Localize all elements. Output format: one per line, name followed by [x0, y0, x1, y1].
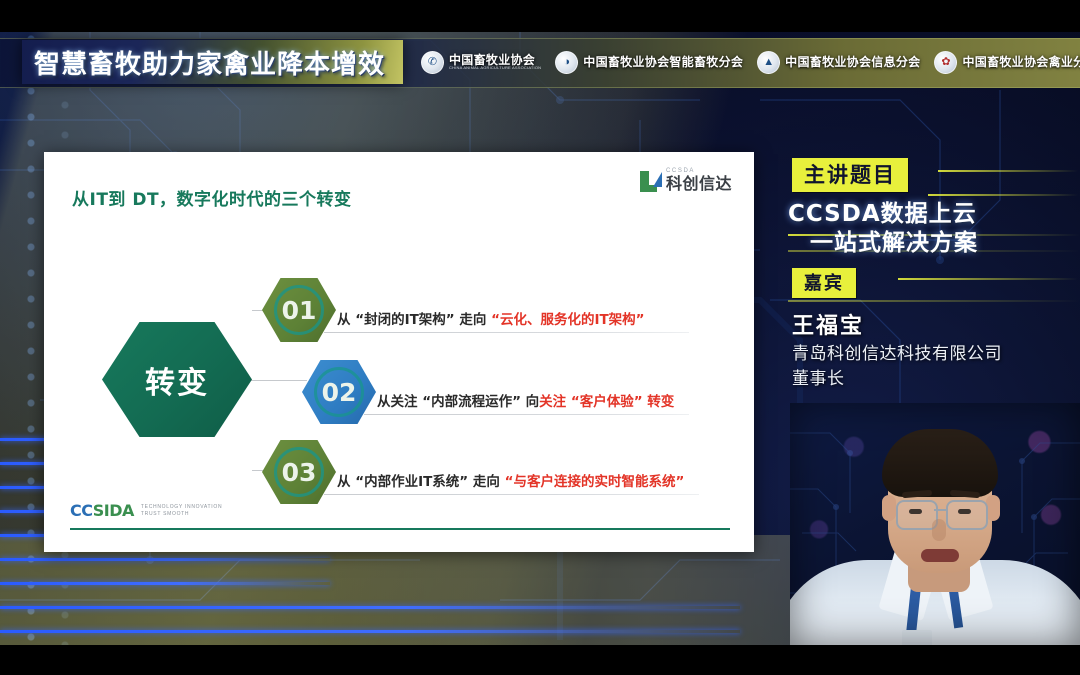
step-number-01: 01 — [282, 296, 317, 325]
center-node-label: 转变 — [145, 358, 209, 402]
ccsida-wordmark-cc: CC — [70, 501, 93, 520]
letterbox-top — [0, 0, 1080, 32]
step-number-03: 03 — [282, 458, 317, 487]
association-logo-2: ▲ 中国畜牧业协会信息分会 — [757, 51, 920, 74]
event-title-text: 智慧畜牧助力家禽业降本增效 — [34, 44, 385, 81]
topic-title-line1: CCSDA数据上云 — [788, 200, 1078, 229]
topic-title: CCSDA数据上云 一站式解决方案 — [788, 200, 1078, 259]
step-rule-03 — [324, 494, 699, 495]
ccsda-mark-icon — [640, 171, 662, 192]
step-text-03: 从 “内部作业IT系统” 走向 “与客户连接的实时智能系统” — [337, 470, 684, 490]
association-logo-3: ✿ 中国畜牧业协会禽业分会 — [934, 51, 1080, 74]
association-logo-row: ✆ 中国畜牧业协会 CHINA ANIMAL AGRICULTURE ASSOC… — [415, 38, 1080, 86]
speaker-ear-right — [986, 495, 1000, 521]
slide-title: 从IT到 DT，数字化时代的三个转变 — [72, 185, 352, 210]
step-text-01-highlight: “云化、服务化的IT架构” — [491, 312, 644, 328]
step-text-01-plain: 从 “封闭的IT架构” 走向 — [337, 312, 491, 328]
information-branch-icon: ▲ — [757, 51, 780, 74]
slide-footer-rule — [70, 528, 730, 530]
step-number-02: 02 — [322, 378, 357, 407]
guest-name: 王福宝 — [792, 308, 864, 340]
presentation-slide: 从IT到 DT，数字化时代的三个转变 CCSDA 科创信达 转变 01 02 0… — [44, 152, 754, 552]
topic-badge-label: 主讲题目 — [804, 159, 896, 189]
association-name-3: 中国畜牧业协会禽业分会 — [962, 56, 1080, 69]
association-name-2: 中国畜牧业协会信息分会 — [785, 56, 920, 69]
ccsida-wordmark: CCSIDA — [70, 501, 134, 520]
speaker-mouth — [921, 549, 959, 562]
step-text-01: 从 “封闭的IT架构” 走向 “云化、服务化的IT架构” — [337, 308, 645, 328]
step-rule-01 — [324, 332, 689, 333]
step-text-03-highlight: “与客户连接的实时智能系统” — [505, 474, 685, 490]
step-text-02-highlight: 关注 “客户体验” 转变 — [539, 394, 674, 410]
association-name-1: 中国畜牧业协会智能畜牧分会 — [583, 56, 743, 69]
guest-badge: 嘉宾 — [792, 268, 856, 298]
event-title-plate: 智慧畜牧助力家禽业降本增效 — [22, 40, 403, 84]
guest-org-line2: 董事长 — [792, 367, 1078, 392]
guest-badge-label: 嘉宾 — [804, 269, 844, 295]
guest-organization: 青岛科创信达科技有限公司 董事长 — [792, 342, 1078, 391]
lanyard-badge-card — [902, 630, 932, 646]
center-node-hexagon: 转变 — [102, 322, 252, 437]
poultry-branch-icon: ✿ — [934, 51, 957, 74]
step-text-02: 从关注 “内部流程运作” 向关注 “客户体验” 转变 — [377, 390, 674, 410]
association-logo-0: ✆ 中国畜牧业协会 CHINA ANIMAL AGRICULTURE ASSOC… — [421, 51, 541, 74]
eyeglasses-bridge — [934, 509, 946, 511]
ccsida-wordmark-sida: SIDA — [93, 501, 134, 520]
speaker-nose — [932, 519, 946, 541]
eyeglasses-lens-right — [946, 500, 988, 530]
slide-footer-logo: CCSIDA TECHNOLOGY INNOVATION TRUST SMOOT… — [70, 501, 222, 520]
letterbox-bottom — [0, 645, 1080, 675]
association-name-en-0: CHINA ANIMAL AGRICULTURE ASSOCIATION — [449, 66, 541, 70]
ccsda-logo-cn: 科创信达 — [666, 176, 732, 192]
smart-livestock-branch-icon: ◑ — [555, 51, 578, 74]
topic-badge: 主讲题目 — [792, 158, 908, 192]
speaker-video-feed[interactable] — [790, 403, 1080, 646]
association-seal-icon: ✆ — [421, 51, 444, 74]
step-text-03-plain: 从 “内部作业IT系统” 走向 — [337, 474, 505, 490]
broadcast-stage: 智慧畜牧助力家禽业降本增效 ✆ 中国畜牧业协会 CHINA ANIMAL AGR… — [0, 0, 1080, 675]
ccsida-tagline-line2: TRUST SMOOTH — [141, 511, 222, 517]
ccsda-brand-logo: CCSDA 科创信达 — [640, 168, 732, 192]
step-text-02-plain: 从关注 “内部流程运作” 向 — [377, 394, 539, 410]
speaker-ear-left — [882, 495, 896, 521]
guest-org-line1: 青岛科创信达科技有限公司 — [792, 342, 1078, 367]
association-logo-1: ◑ 中国畜牧业协会智能畜牧分会 — [555, 51, 743, 74]
topic-title-line2: 一站式解决方案 — [810, 229, 1078, 258]
connector-line-02 — [249, 380, 307, 381]
speaker-hair — [882, 429, 998, 497]
step-rule-02 — [364, 414, 689, 415]
